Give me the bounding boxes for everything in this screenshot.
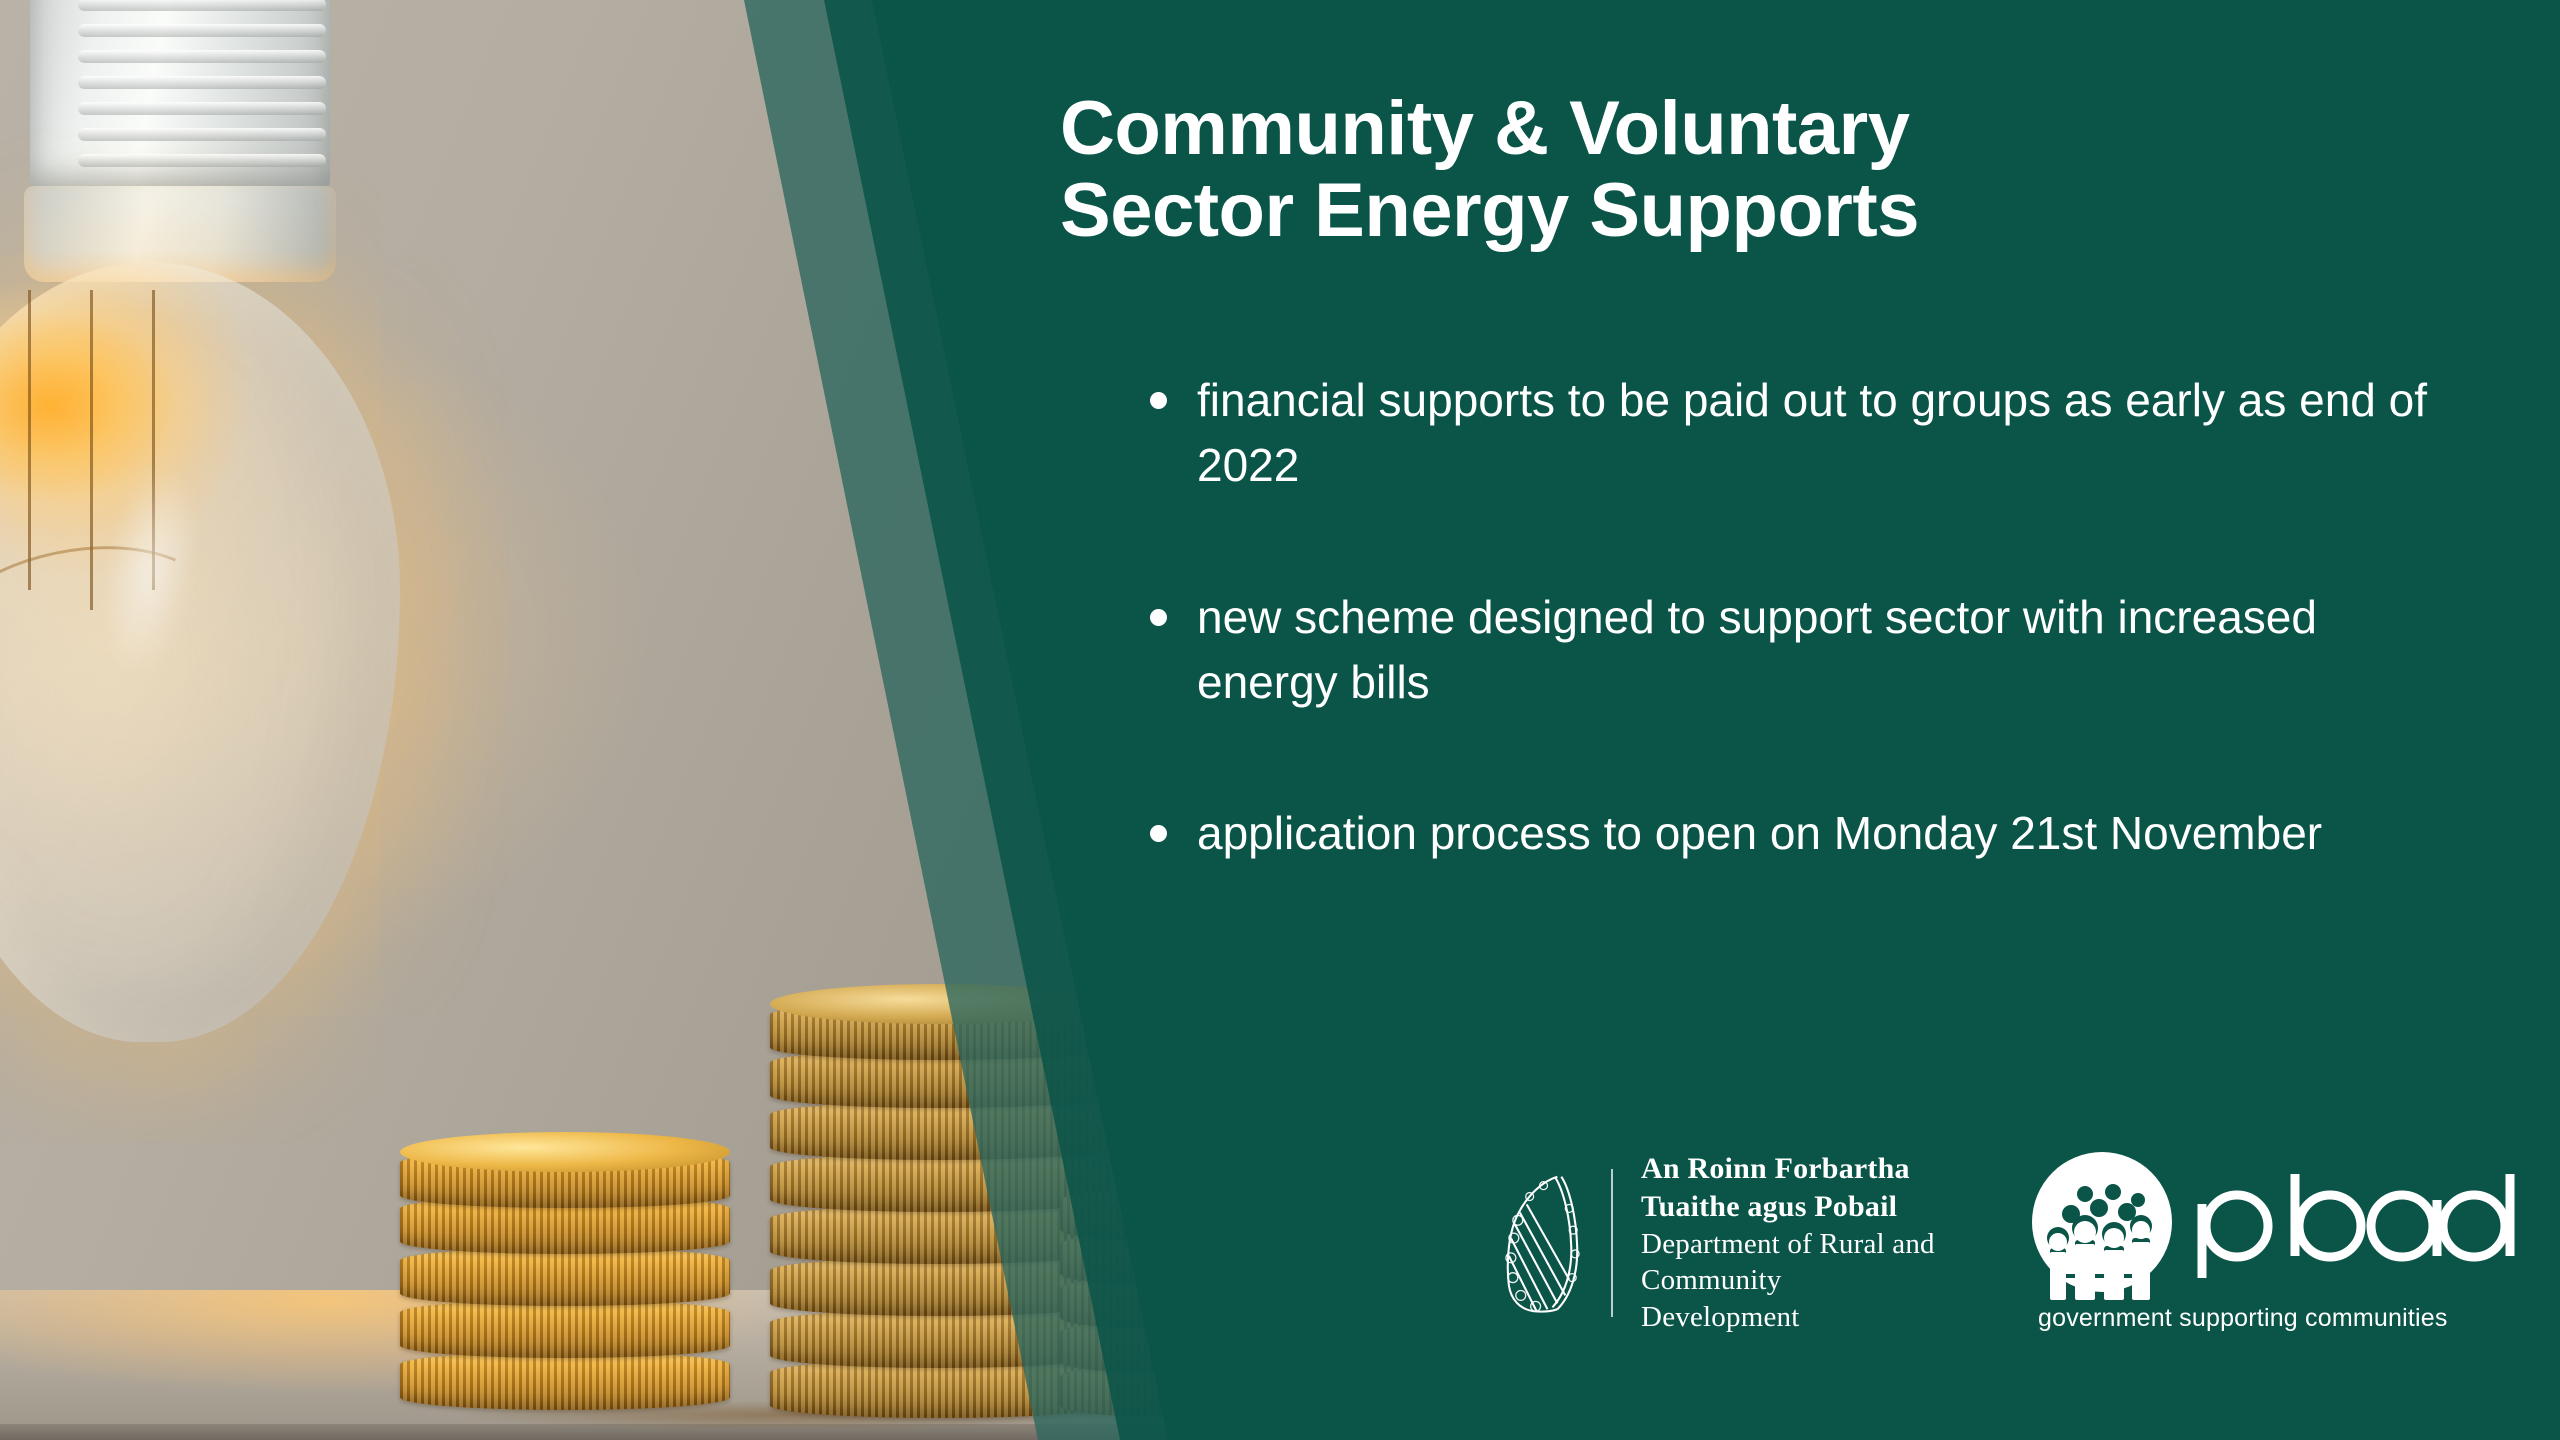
- lightbulb-graphic: [0, 0, 560, 1320]
- bullet-list: financial supports to be paid out to gro…: [1150, 368, 2470, 867]
- slide-canvas: Community & Voluntary Sector Energy Supp…: [0, 0, 2560, 1440]
- list-item: application process to open on Monday 21…: [1150, 801, 2470, 866]
- list-item: new scheme designed to support sector wi…: [1150, 585, 2470, 716]
- gov-irish-line-2: Tuaithe agus Pobail: [1641, 1188, 1944, 1226]
- government-department-logo: An Roinn Forbartha Tuaithe agus Pobail D…: [1500, 1150, 1944, 1335]
- pobal-people-circle-icon: [2028, 1152, 2176, 1300]
- list-item: financial supports to be paid out to gro…: [1150, 368, 2470, 499]
- logo-row: An Roinn Forbartha Tuaithe agus Pobail D…: [1500, 1150, 2560, 1335]
- gov-irish-line-1: An Roinn Forbartha: [1641, 1150, 1944, 1188]
- pobal-logo: government supporting communities: [2028, 1152, 2560, 1333]
- gov-english-line-1: Department of Rural and: [1641, 1226, 1944, 1263]
- bullet-text: application process to open on Monday 21…: [1197, 801, 2322, 866]
- bullet-text: financial supports to be paid out to gro…: [1197, 368, 2470, 499]
- gov-english-line-2: Community Development: [1641, 1262, 1944, 1335]
- bullet-dot-icon: [1150, 392, 1167, 409]
- logo-divider: [1611, 1169, 1613, 1317]
- bullet-dot-icon: [1150, 609, 1167, 626]
- pobal-logo-row: [2028, 1152, 2560, 1300]
- page-title-line-2: Sector Energy Supports: [1060, 170, 2360, 252]
- irish-harp-icon: [1500, 1168, 1585, 1318]
- pobal-wordmark: [2192, 1170, 2560, 1282]
- bullet-dot-icon: [1150, 825, 1167, 842]
- pobal-tagline: government supporting communities: [2038, 1304, 2448, 1333]
- page-title: Community & Voluntary Sector Energy Supp…: [1060, 88, 2360, 252]
- panel-content: Community & Voluntary Sector Energy Supp…: [1040, 0, 2560, 1440]
- page-title-line-1: Community & Voluntary: [1060, 88, 2360, 170]
- government-logo-text: An Roinn Forbartha Tuaithe agus Pobail D…: [1641, 1150, 1944, 1335]
- bullet-text: new scheme designed to support sector wi…: [1197, 585, 2470, 716]
